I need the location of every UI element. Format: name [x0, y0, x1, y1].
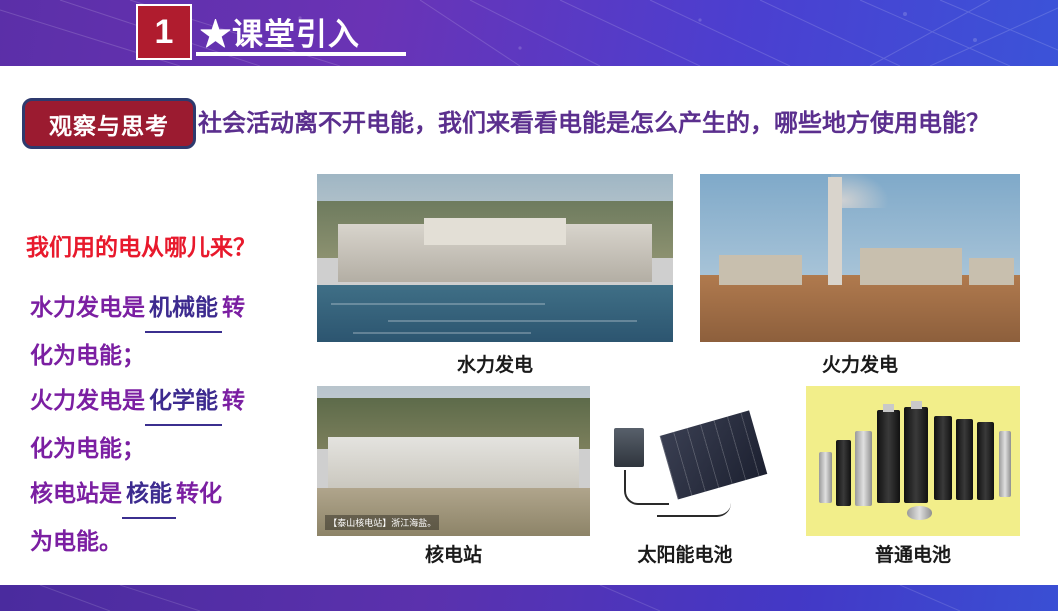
statement-line-2: 化为电能； [30, 333, 320, 378]
caption-hydro: 水力发电 [317, 350, 673, 377]
intro-paragraph: 社会活动离不开电能，我们来看看电能是怎么产生的，哪些地方使用电能？ [198, 103, 1038, 145]
hydro-ripple [388, 320, 637, 322]
nuclear-overlay-label: 【泰山核电站】浙江海盐。 [325, 515, 439, 530]
photo-solar-cell [596, 386, 774, 536]
caption-solar: 太阳能电池 [586, 540, 784, 567]
statement-list: 水力发电是机械能转 化为电能； 火力发电是化学能转 化为电能； 核电站是核能转化… [30, 285, 320, 564]
statement-line-3: 火力发电是化学能转 [30, 378, 320, 426]
battery-terminal [911, 401, 922, 409]
caption-nuclear: 核电站 [317, 540, 590, 567]
statement-3-blank: 化学能 [145, 378, 222, 426]
section-number: 1 [155, 15, 174, 49]
thermal-building [969, 258, 1014, 285]
hydro-ripple [331, 303, 545, 305]
observe-and-think-tag: 观察与思考 [22, 98, 196, 149]
battery-cell [999, 431, 1012, 497]
photo-hydro-power-station [317, 174, 673, 342]
observe-and-think-label: 观察与思考 [49, 107, 169, 141]
hydro-ripple [353, 332, 531, 334]
statement-4-text: 化为电能； [30, 435, 145, 461]
bottom-banner-decorative-lines [0, 585, 1058, 611]
button-cell-battery [907, 506, 933, 520]
statement-3-suffix: 转 [222, 387, 245, 413]
battery-terminal [883, 404, 894, 412]
statement-6-text: 为电能。 [30, 528, 122, 554]
thermal-ground [700, 275, 1020, 342]
battery-cell [956, 419, 973, 500]
slide-root: 1 ★课堂引入 观察与思考 社会活动离不开电能，我们来看看电能是怎么产生的，哪些… [0, 0, 1058, 611]
statement-line-4: 化为电能； [30, 426, 320, 471]
photo-common-batteries [806, 386, 1020, 536]
battery-cell [855, 431, 872, 506]
section-number-box: 1 [136, 4, 192, 60]
bottom-banner [0, 585, 1058, 611]
thermal-chimney [828, 177, 842, 285]
thermal-building [860, 248, 962, 285]
title-underline [196, 52, 406, 56]
battery-cell [819, 452, 832, 503]
page-title: ★课堂引入 [200, 9, 360, 54]
statement-line-6: 为电能。 [30, 519, 320, 564]
battery-cell [836, 440, 851, 506]
statement-1-blank: 机械能 [145, 285, 222, 333]
solar-wire [657, 500, 732, 517]
battery-cell [934, 416, 951, 500]
statement-5-prefix: 核电站是 [30, 480, 122, 506]
statement-5-suffix: 转化 [176, 480, 222, 506]
photo-nuclear-power-station: 【泰山核电站】浙江海盐。 [317, 386, 590, 536]
statement-3-prefix: 火力发电是 [30, 387, 145, 413]
battery-cell [977, 422, 994, 500]
statement-5-blank: 核能 [122, 471, 176, 519]
statement-line-5: 核电站是核能转化 [30, 471, 320, 519]
statement-line-1: 水力发电是机械能转 [30, 285, 320, 333]
caption-thermal: 火力发电 [700, 350, 1020, 377]
statement-1-suffix: 转 [222, 294, 245, 320]
statement-2-text: 化为电能； [30, 342, 145, 368]
thermal-building [719, 255, 802, 285]
battery-cell [877, 410, 901, 503]
statement-1-prefix: 水力发电是 [30, 294, 145, 320]
hydro-dam-upper [424, 218, 566, 245]
battery-cell [904, 407, 928, 503]
solar-controller-box [614, 428, 644, 467]
left-question: 我们用的电从哪儿来？ [26, 228, 256, 262]
photo-thermal-power-station [700, 174, 1020, 342]
nuclear-building [328, 437, 579, 491]
caption-battery: 普通电池 [806, 540, 1020, 567]
